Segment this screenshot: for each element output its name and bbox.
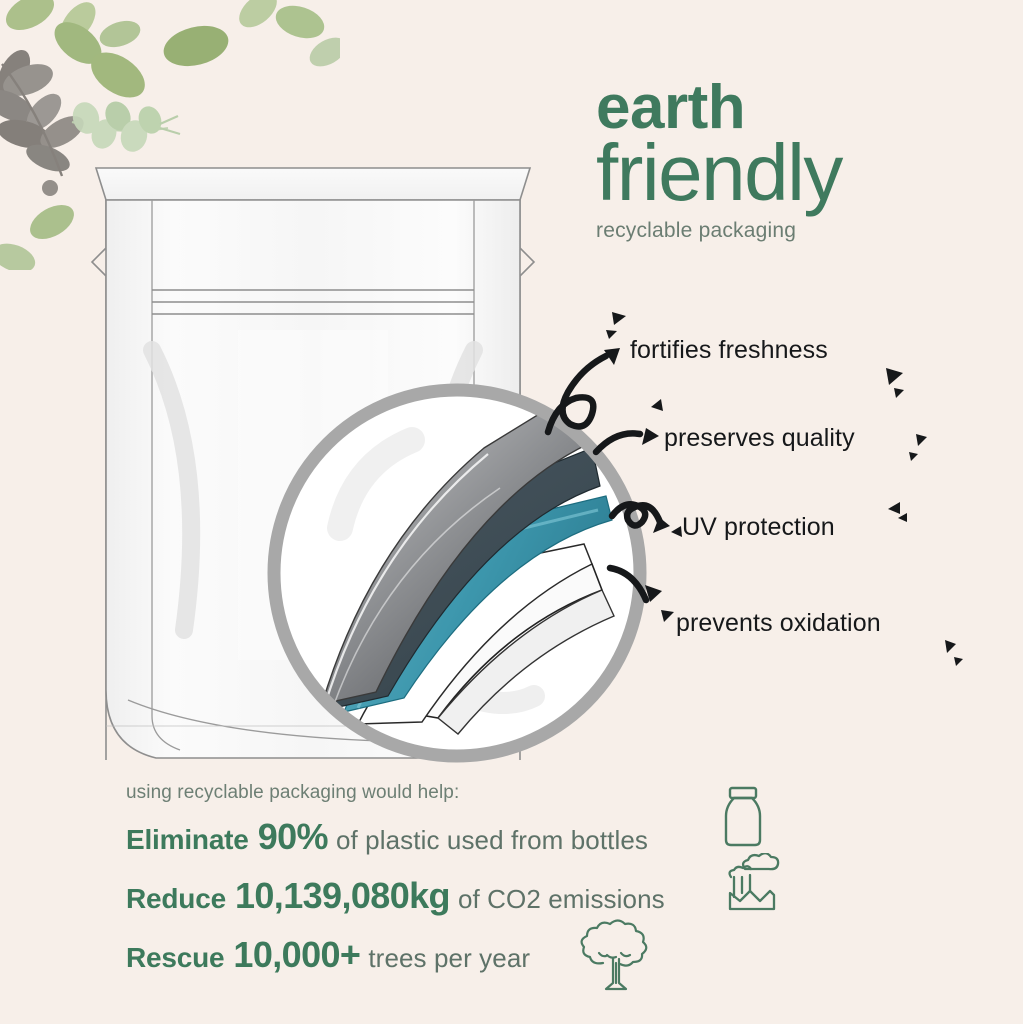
headline-line-friendly: friendly: [596, 134, 1016, 212]
stat-tail: trees per year: [368, 943, 530, 974]
stats-caption: using recyclable packaging would help:: [126, 782, 746, 804]
stat-verb: Rescue: [126, 942, 224, 974]
stat-value: 90%: [258, 816, 328, 858]
headline-subtitle: recyclable packaging: [596, 219, 1016, 243]
headline-block: earth friendly recyclable packaging: [596, 78, 1016, 243]
poster-canvas: earth friendly recyclable packaging fort…: [0, 0, 1023, 1024]
magnifier-cross-section: [262, 378, 652, 768]
tree-icon: [573, 919, 659, 995]
bottle-icon: [713, 784, 773, 850]
stat-row: Reduce 10,139,080kg of CO2 emissions: [126, 875, 746, 917]
stat-value: 10,139,080kg: [235, 875, 450, 917]
feature-label-uv-protection: UV protection: [682, 513, 835, 542]
stat-verb: Reduce: [126, 883, 226, 915]
stat-row: Eliminate 90% of plastic used from bottl…: [126, 816, 746, 858]
factory-icon: [721, 853, 783, 915]
stat-value: 10,000+: [233, 934, 360, 976]
stat-tail: of plastic used from bottles: [336, 825, 648, 856]
stat-tail: of CO2 emissions: [458, 884, 665, 915]
feature-label-preserves-quality: preserves quality: [664, 424, 855, 453]
stat-verb: Eliminate: [126, 824, 249, 856]
feature-label-prevents-oxidation: prevents oxidation: [676, 609, 881, 638]
feature-label-fortifies-freshness: fortifies freshness: [630, 336, 828, 365]
